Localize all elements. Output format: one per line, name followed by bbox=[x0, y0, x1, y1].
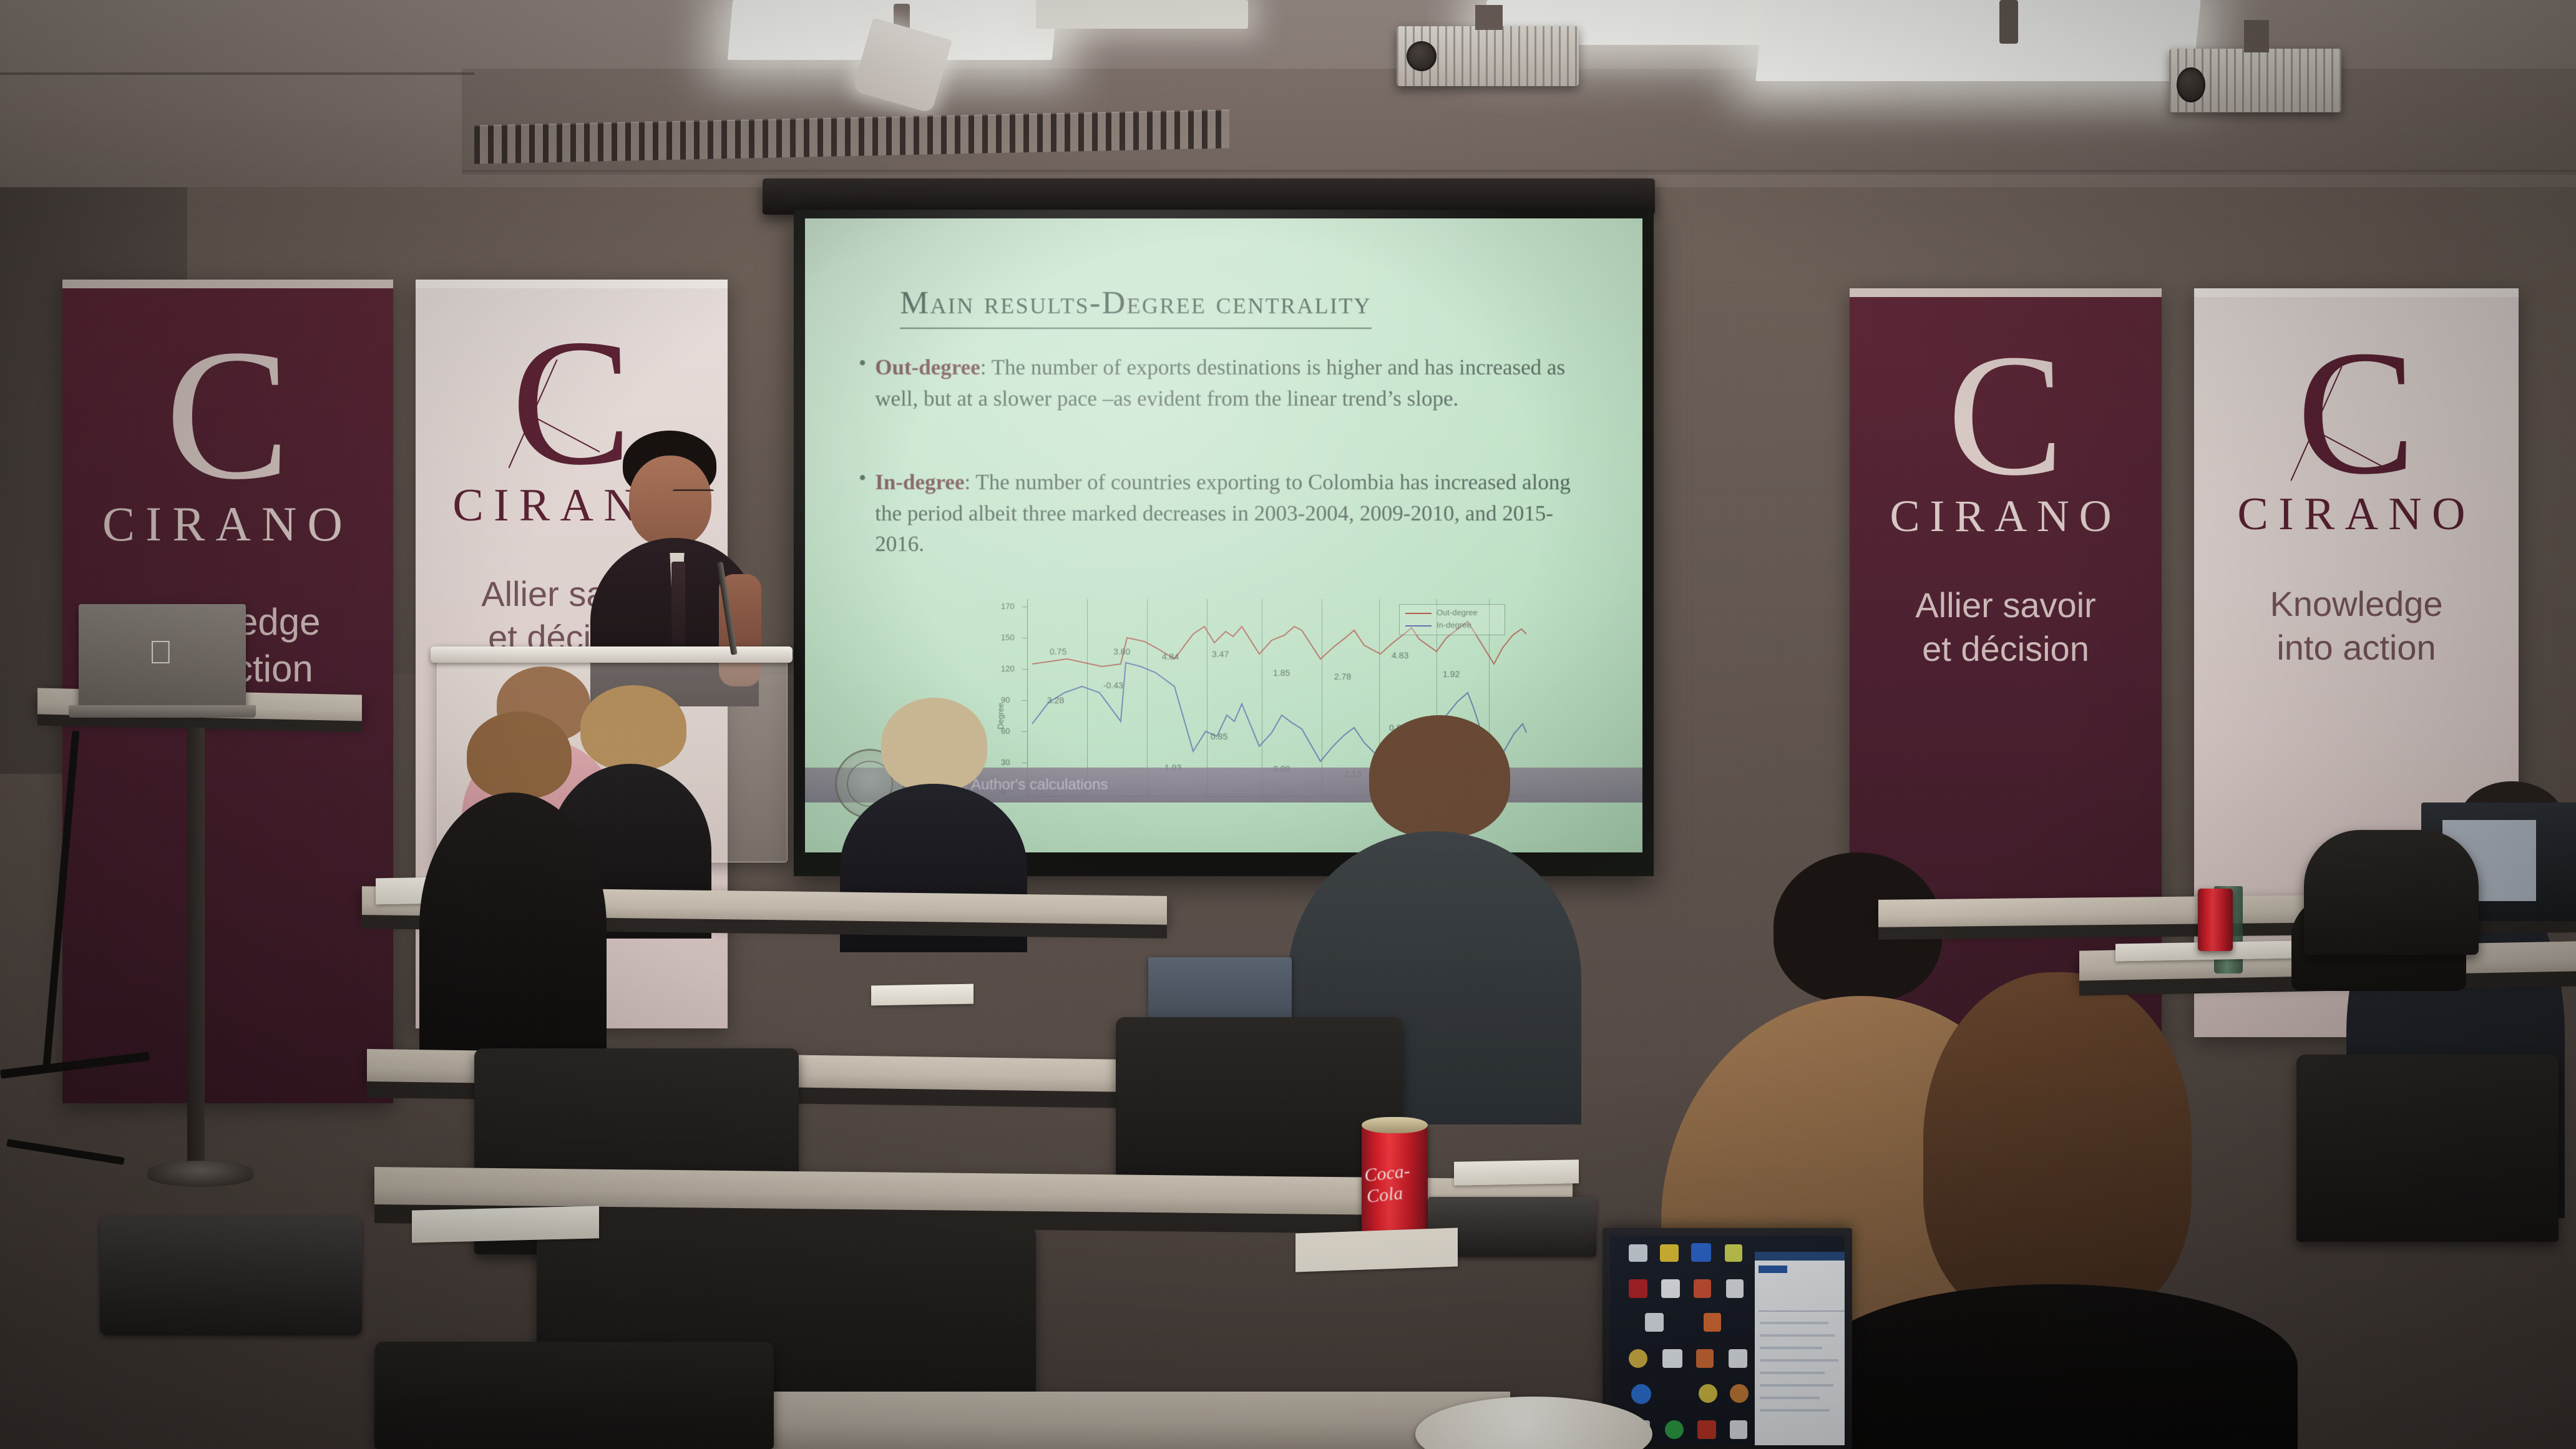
audience-hair-7 bbox=[1923, 972, 2192, 1322]
paper-sheet-5 bbox=[1454, 1159, 1579, 1185]
podium-top-rail bbox=[431, 646, 793, 663]
paper-sheet-4 bbox=[412, 1206, 599, 1242]
presenter-glasses-icon bbox=[673, 489, 714, 499]
desktop-icon-14[interactable] bbox=[1729, 1349, 1747, 1368]
desktop-icon-16[interactable] bbox=[1699, 1384, 1717, 1403]
chart-panel-label-bot-1: -0.43 bbox=[1103, 680, 1123, 690]
bullet-term-1: Out-degree bbox=[875, 355, 980, 379]
bullet-dot-icon-2: • bbox=[859, 467, 866, 560]
coke-can-right bbox=[2198, 889, 2233, 951]
window-list-row-6[interactable] bbox=[1760, 1384, 1833, 1387]
slide-bullet-2: • In-degree: The number of countries exp… bbox=[859, 467, 1595, 560]
spotlight-neck-2 bbox=[1999, 0, 2018, 44]
chart-ytick-1: 150 bbox=[1001, 633, 1015, 642]
ceiling-seam-2 bbox=[462, 170, 2576, 172]
ceiling-light-panel-3 bbox=[1755, 0, 2201, 81]
macbook-lid:  bbox=[79, 604, 246, 710]
desktop-icon-10[interactable] bbox=[1704, 1313, 1721, 1332]
desktop-icon-2[interactable] bbox=[1660, 1244, 1679, 1262]
audience-shoulders-4 bbox=[419, 793, 607, 1061]
coke-wordmark: Coca-Cola bbox=[1364, 1159, 1430, 1207]
chart-ytick-2: 120 bbox=[1001, 664, 1015, 673]
window-list-row-2[interactable] bbox=[1760, 1334, 1835, 1337]
apple-logo-icon:  bbox=[149, 637, 173, 669]
legend-label-out-degree: Out-degree bbox=[1437, 608, 1478, 617]
presenter-tie bbox=[671, 562, 685, 649]
banner-tagline-3: Allier savoir et décision bbox=[1915, 583, 2095, 671]
side-table-left-leg bbox=[187, 728, 205, 1177]
window-list-row-5[interactable] bbox=[1760, 1372, 1825, 1374]
desktop-icon-1[interactable] bbox=[1629, 1244, 1647, 1262]
audience-hair-4 bbox=[467, 711, 572, 799]
banner-top-rail bbox=[62, 280, 393, 288]
coke-can-top bbox=[1362, 1117, 1428, 1133]
desktop-icon-7[interactable] bbox=[1694, 1279, 1711, 1298]
chair-foreground-front bbox=[374, 1342, 774, 1449]
chart-panel-label-top-5: 2.78 bbox=[1334, 671, 1351, 681]
ceiling-light-panel-4 bbox=[1036, 0, 1248, 29]
desktop-icon-12[interactable] bbox=[1662, 1349, 1682, 1368]
chart-panel-label-top-2: 4.84 bbox=[1162, 651, 1179, 661]
macbook-base bbox=[69, 705, 256, 718]
desktop-icon-3[interactable] bbox=[1691, 1243, 1711, 1262]
desktop-icon-11[interactable] bbox=[1629, 1349, 1647, 1368]
desktop-icon-20[interactable] bbox=[1697, 1420, 1716, 1439]
chart-panel-label-top-1: 3.80 bbox=[1113, 646, 1130, 656]
legend-label-in-degree: In-degree bbox=[1437, 620, 1471, 630]
chart-panel-label-top-7: 1.92 bbox=[1443, 669, 1460, 679]
bullet-body-2: : The number of countries exporting to C… bbox=[875, 470, 1571, 556]
chair-right-near bbox=[2296, 1055, 2559, 1242]
cirano-c-logo-3: C bbox=[1948, 347, 2064, 483]
desktop-icon-19[interactable] bbox=[1665, 1420, 1684, 1439]
ceiling-seam bbox=[0, 72, 474, 75]
chart-panel-label-top-4: 1.85 bbox=[1273, 668, 1290, 678]
desktop-icon-17[interactable] bbox=[1730, 1384, 1749, 1403]
desktop-icon-13[interactable] bbox=[1696, 1349, 1714, 1368]
desktop-icon-21[interactable] bbox=[1730, 1420, 1747, 1439]
window-list-row-3[interactable] bbox=[1760, 1347, 1822, 1349]
desktop-icon-15[interactable] bbox=[1631, 1384, 1651, 1404]
presenter-head bbox=[629, 456, 711, 547]
laptop-desktop[interactable] bbox=[1610, 1236, 1845, 1445]
napkin bbox=[1295, 1227, 1458, 1272]
ceiling-projector-1 bbox=[1397, 26, 1579, 86]
window-divider bbox=[1759, 1310, 1845, 1312]
banner-top-rail-3 bbox=[1850, 288, 2162, 297]
foreground-laptop bbox=[1603, 1228, 1852, 1449]
banner-top-rail-4 bbox=[2194, 288, 2519, 297]
banner-top-rail-2 bbox=[416, 280, 728, 288]
chart-ytick-0: 170 bbox=[1001, 602, 1015, 611]
legend-swatch-in-degree bbox=[1405, 625, 1432, 627]
bullet-term-2: In-degree bbox=[875, 470, 964, 494]
desktop-icon-5[interactable] bbox=[1629, 1279, 1647, 1298]
projector-lens-2 bbox=[2177, 67, 2205, 102]
floor-equipment-case bbox=[100, 1217, 362, 1335]
window-tab-active[interactable] bbox=[1759, 1266, 1787, 1273]
window-list-row-4[interactable] bbox=[1760, 1359, 1838, 1362]
ceiling-projector-2 bbox=[2169, 49, 2341, 112]
open-window-titlebar[interactable] bbox=[1755, 1252, 1845, 1261]
chart-panel-label-bot-3: 0.85 bbox=[1211, 731, 1227, 741]
cirano-c-logo: C bbox=[165, 341, 290, 487]
window-list-row-7[interactable] bbox=[1760, 1397, 1820, 1399]
legend-swatch-out-degree bbox=[1405, 613, 1432, 614]
window-list-row[interactable] bbox=[1760, 1322, 1828, 1324]
audience-member-7 bbox=[1811, 972, 2298, 1449]
chart-panel-label-top-0: 0.75 bbox=[1050, 646, 1066, 656]
chair-right-far bbox=[2304, 830, 2479, 955]
projector-lens bbox=[1407, 41, 1437, 71]
banner-tagline-4: Knowledge into action bbox=[2270, 582, 2442, 670]
bullet-dot-icon: • bbox=[859, 352, 866, 414]
chart-panel-label-bot-0: 3.28 bbox=[1047, 695, 1064, 705]
conference-room-photo: C CIRANO Knowledge into action C CIRANO … bbox=[0, 0, 2576, 1449]
slide-title: Main results-Degree centrality bbox=[900, 285, 1372, 329]
banner-brand-name-3: CIRANO bbox=[1890, 490, 2121, 542]
cirano-c-flare-logo-2: C bbox=[2297, 343, 2416, 482]
slide-bullet-1: • Out-degree: The number of exports dest… bbox=[859, 352, 1595, 414]
coke-can: Coca-Cola bbox=[1362, 1123, 1428, 1243]
desktop-icon-6[interactable] bbox=[1661, 1279, 1680, 1298]
audience-shoulders-7 bbox=[1811, 1284, 2298, 1449]
audience-member-4 bbox=[419, 711, 607, 1061]
audience-hair-5 bbox=[1369, 715, 1510, 837]
banner-brand-name: CIRANO bbox=[102, 496, 353, 552]
audience-hair-3 bbox=[881, 698, 987, 791]
paper-sheet-2 bbox=[871, 984, 973, 1006]
desktop-icon-4[interactable] bbox=[1725, 1244, 1742, 1262]
desktop-icon-9[interactable] bbox=[1645, 1313, 1664, 1332]
chart-panel-label-top-3: 3.47 bbox=[1212, 649, 1229, 659]
window-list-row-8[interactable] bbox=[1760, 1409, 1830, 1412]
side-table-leg-base bbox=[147, 1161, 253, 1187]
chart-panel-label-top-6: 4.83 bbox=[1392, 650, 1408, 660]
desktop-icon-8[interactable] bbox=[1726, 1279, 1744, 1298]
